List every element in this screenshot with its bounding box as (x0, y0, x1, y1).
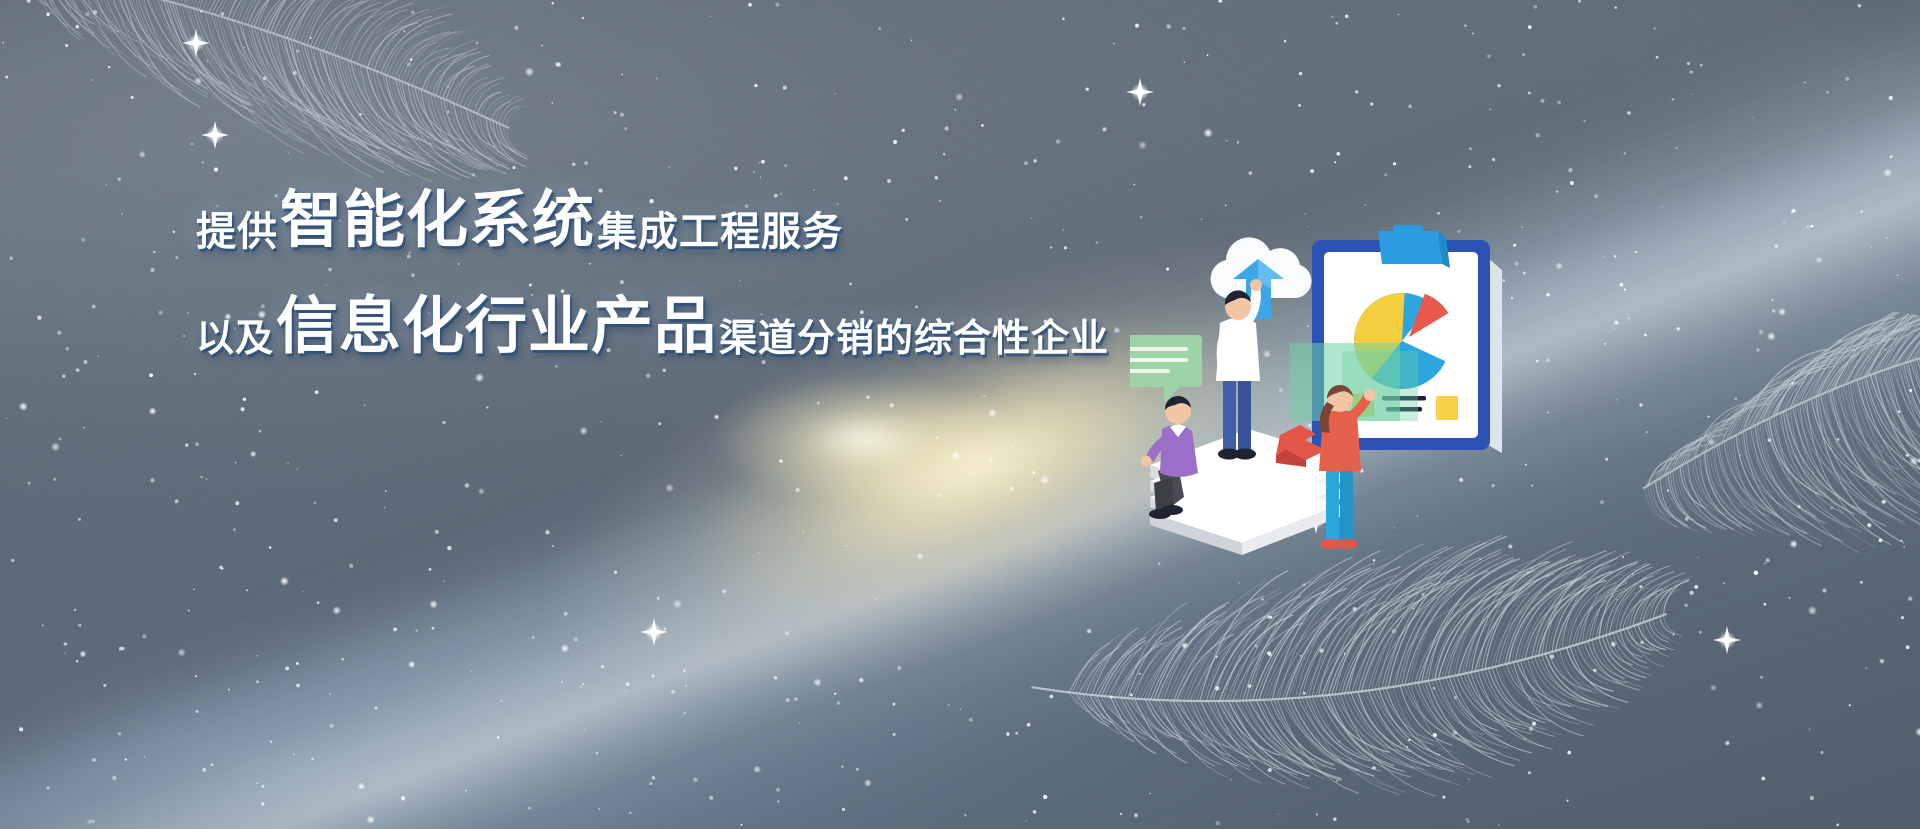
banner-stage: 提供 智能化系统 集成工程服务 以及 信息化行业产品 渠道分销的综合性企业 (0, 0, 1920, 829)
vignette-overlay (0, 0, 1920, 829)
